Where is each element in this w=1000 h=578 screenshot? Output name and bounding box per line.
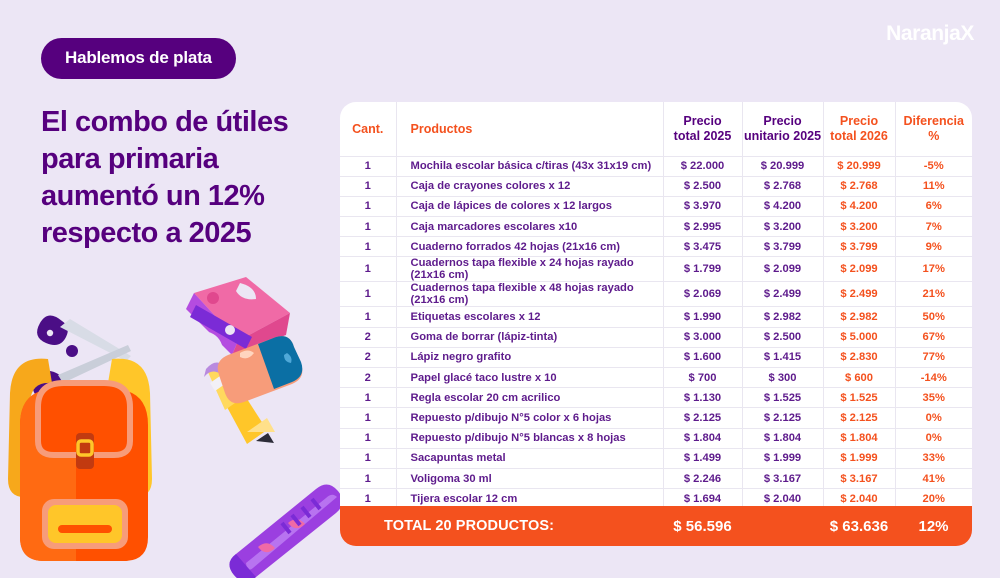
cell-total-2025: $ 2.995 [663, 217, 742, 237]
table-body: 1Mochila escolar básica c/tiras (43x 31x… [340, 156, 972, 506]
cell-total-2025: $ 1.130 [663, 388, 742, 408]
cell-total-2025: $ 3.970 [663, 196, 742, 216]
cell-product: Repuesto p/dibujo N°5 blancas x 8 hojas [396, 428, 663, 448]
table-row: 1Cuaderno forrados 42 hojas (21x16 cm)$ … [340, 237, 972, 257]
cell-unit-2025: $ 300 [742, 368, 823, 388]
cell-qty: 1 [340, 257, 396, 282]
cell-total-2026: $ 2.099 [823, 257, 895, 282]
col-header-difference-line2: % [928, 129, 939, 143]
cell-difference: 35% [895, 388, 972, 408]
table-row: 1Regla escolar 20 cm acrilico$ 1.130$ 1.… [340, 388, 972, 408]
cell-unit-2025: $ 2.040 [742, 489, 823, 506]
cell-product: Papel glacé taco lustre x 10 [396, 368, 663, 388]
cell-total-2026: $ 4.200 [823, 196, 895, 216]
table-row: 1Tijera escolar 12 cm$ 1.694$ 2.040$ 2.0… [340, 489, 972, 506]
cell-total-2025: $ 22.000 [663, 156, 742, 176]
cell-unit-2025: $ 2.499 [742, 282, 823, 307]
cell-total-2026: $ 3.167 [823, 468, 895, 488]
backpack-icon [8, 359, 152, 561]
cell-unit-2025: $ 1.999 [742, 448, 823, 468]
cell-total-2025: $ 2.246 [663, 468, 742, 488]
cell-qty: 1 [340, 388, 396, 408]
col-header-total-2026: Precio total 2026 [823, 102, 895, 156]
cell-unit-2025: $ 2.982 [742, 307, 823, 327]
cell-total-2026: $ 2.768 [823, 176, 895, 196]
cell-total-2025: $ 2.069 [663, 282, 742, 307]
cell-product: Caja de lápices de colores x 12 largos [396, 196, 663, 216]
table-row: 2Papel glacé taco lustre x 10$ 700$ 300$… [340, 368, 972, 388]
section-badge: Hablemos de plata [41, 38, 236, 79]
cell-difference: 0% [895, 408, 972, 428]
cell-difference: 77% [895, 347, 972, 367]
cell-product: Cuadernos tapa flexible x 24 hojas rayad… [396, 257, 663, 282]
page-title: El combo de útiles para primaria aumentó… [41, 104, 341, 252]
cell-unit-2025: $ 2.768 [742, 176, 823, 196]
cell-difference: 41% [895, 468, 972, 488]
cell-total-2025: $ 1.499 [663, 448, 742, 468]
cell-qty: 1 [340, 156, 396, 176]
cell-unit-2025: $ 20.999 [742, 156, 823, 176]
cell-difference: 6% [895, 196, 972, 216]
cell-difference: 0% [895, 428, 972, 448]
total-total-2026: $ 63.636 [823, 518, 895, 535]
cell-unit-2025: $ 4.200 [742, 196, 823, 216]
naranjax-logo: NaranjaX [886, 22, 974, 46]
cell-qty: 1 [340, 307, 396, 327]
cell-qty: 1 [340, 237, 396, 257]
cell-difference: 67% [895, 327, 972, 347]
cell-qty: 1 [340, 282, 396, 307]
cell-product: Lápiz negro grafito [396, 347, 663, 367]
table-header-row: Cant. Productos Precio total 2025 Precio… [340, 102, 972, 156]
cell-unit-2025: $ 1.525 [742, 388, 823, 408]
cell-total-2025: $ 1.804 [663, 428, 742, 448]
cell-product: Etiquetas escolares x 12 [396, 307, 663, 327]
col-header-unit-2025: Precio unitario 2025 [742, 102, 823, 156]
cell-total-2026: $ 2.125 [823, 408, 895, 428]
cell-qty: 2 [340, 327, 396, 347]
cell-qty: 1 [340, 428, 396, 448]
cell-qty: 1 [340, 448, 396, 468]
cell-total-2025: $ 1.799 [663, 257, 742, 282]
col-header-difference-line1: Diferencia [904, 114, 964, 128]
total-label: TOTAL 20 PRODUCTOS: [340, 518, 663, 534]
cell-qty: 1 [340, 196, 396, 216]
cell-difference: 33% [895, 448, 972, 468]
cell-product: Cuaderno forrados 42 hojas (21x16 cm) [396, 237, 663, 257]
table-row: 1Etiquetas escolares x 12$ 1.990$ 2.982$… [340, 307, 972, 327]
total-total-2025: $ 56.596 [663, 518, 742, 535]
cell-product: Tijera escolar 12 cm [396, 489, 663, 506]
cell-difference: 20% [895, 489, 972, 506]
total-difference: 12% [895, 518, 972, 535]
table-row: 1Caja marcadores escolares x10$ 2.995$ 3… [340, 217, 972, 237]
col-header-qty: Cant. [340, 102, 396, 156]
table-row: 1Mochila escolar básica c/tiras (43x 31x… [340, 156, 972, 176]
table-row: 2Lápiz negro grafito$ 1.600$ 1.415$ 2.83… [340, 347, 972, 367]
cell-product: Regla escolar 20 cm acrilico [396, 388, 663, 408]
cell-total-2026: $ 3.200 [823, 217, 895, 237]
cell-qty: 1 [340, 408, 396, 428]
cell-product: Cuadernos tapa flexible x 48 hojas rayad… [396, 282, 663, 307]
cell-unit-2025: $ 3.200 [742, 217, 823, 237]
table-total-row: TOTAL 20 PRODUCTOS: $ 56.596 $ 63.636 12… [340, 506, 972, 546]
cell-unit-2025: $ 2.500 [742, 327, 823, 347]
col-header-total-2026-line1: Precio [840, 114, 878, 128]
table-row: 1Voligoma 30 ml$ 2.246$ 3.167$ 3.16741% [340, 468, 972, 488]
price-table: Cant. Productos Precio total 2025 Precio… [340, 102, 972, 506]
cell-total-2026: $ 2.499 [823, 282, 895, 307]
cell-product: Caja marcadores escolares x10 [396, 217, 663, 237]
col-header-product: Productos [396, 102, 663, 156]
cell-qty: 2 [340, 347, 396, 367]
col-header-unit-2025-line2: unitario 2025 [744, 129, 821, 143]
cell-total-2025: $ 700 [663, 368, 742, 388]
cell-total-2025: $ 2.500 [663, 176, 742, 196]
cell-total-2026: $ 3.799 [823, 237, 895, 257]
cell-product: Sacapuntas metal [396, 448, 663, 468]
cell-total-2025: $ 1.600 [663, 347, 742, 367]
cell-total-2025: $ 2.125 [663, 408, 742, 428]
col-header-total-2025-line1: Precio [683, 114, 721, 128]
cell-total-2026: $ 2.830 [823, 347, 895, 367]
cell-qty: 1 [340, 468, 396, 488]
cell-total-2026: $ 5.000 [823, 327, 895, 347]
cell-unit-2025: $ 3.167 [742, 468, 823, 488]
cell-total-2025: $ 1.694 [663, 489, 742, 506]
col-header-unit-2025-line1: Precio [763, 114, 801, 128]
school-supplies-illustration [0, 275, 345, 578]
cell-total-2026: $ 1.525 [823, 388, 895, 408]
cell-total-2026: $ 1.999 [823, 448, 895, 468]
cell-unit-2025: $ 2.099 [742, 257, 823, 282]
cell-product: Caja de crayones colores x 12 [396, 176, 663, 196]
table-row: 1Sacapuntas metal$ 1.499$ 1.999$ 1.99933… [340, 448, 972, 468]
cell-total-2026: $ 2.040 [823, 489, 895, 506]
cell-difference: -14% [895, 368, 972, 388]
cell-qty: 1 [340, 176, 396, 196]
col-header-total-2025-line2: total 2025 [674, 129, 732, 143]
cell-total-2026: $ 600 [823, 368, 895, 388]
table-row: 2Goma de borrar (lápiz-tinta)$ 3.000$ 2.… [340, 327, 972, 347]
cell-product: Mochila escolar básica c/tiras (43x 31x1… [396, 156, 663, 176]
cell-difference: 7% [895, 217, 972, 237]
cell-total-2026: $ 20.999 [823, 156, 895, 176]
infographic-canvas: NaranjaX Hablemos de plata El combo de ú… [0, 0, 1000, 578]
cell-total-2026: $ 2.982 [823, 307, 895, 327]
table-row: 1Cuadernos tapa flexible x 48 hojas raya… [340, 282, 972, 307]
col-header-total-2025: Precio total 2025 [663, 102, 742, 156]
table-row: 1Cuadernos tapa flexible x 24 hojas raya… [340, 257, 972, 282]
cell-qty: 1 [340, 489, 396, 506]
table-row: 1Caja de crayones colores x 12$ 2.500$ 2… [340, 176, 972, 196]
cell-product: Goma de borrar (lápiz-tinta) [396, 327, 663, 347]
cell-difference: 11% [895, 176, 972, 196]
cell-qty: 2 [340, 368, 396, 388]
cell-difference: 9% [895, 237, 972, 257]
cell-qty: 1 [340, 217, 396, 237]
cell-total-2026: $ 1.804 [823, 428, 895, 448]
cell-difference: 17% [895, 257, 972, 282]
cell-product: Repuesto p/dibujo N°5 color x 6 hojas [396, 408, 663, 428]
cell-difference: -5% [895, 156, 972, 176]
cell-difference: 21% [895, 282, 972, 307]
cell-product: Voligoma 30 ml [396, 468, 663, 488]
cell-total-2025: $ 3.475 [663, 237, 742, 257]
cell-unit-2025: $ 1.415 [742, 347, 823, 367]
col-header-difference: Diferencia % [895, 102, 972, 156]
col-header-total-2026-line2: total 2026 [830, 129, 888, 143]
cell-difference: 50% [895, 307, 972, 327]
cell-unit-2025: $ 2.125 [742, 408, 823, 428]
table-row: 1Repuesto p/dibujo N°5 color x 6 hojas$ … [340, 408, 972, 428]
cell-total-2025: $ 3.000 [663, 327, 742, 347]
cell-total-2025: $ 1.990 [663, 307, 742, 327]
table-row: 1Caja de lápices de colores x 12 largos$… [340, 196, 972, 216]
crayon-icon [229, 484, 342, 578]
table-row: 1Repuesto p/dibujo N°5 blancas x 8 hojas… [340, 428, 972, 448]
cell-unit-2025: $ 3.799 [742, 237, 823, 257]
cell-unit-2025: $ 1.804 [742, 428, 823, 448]
